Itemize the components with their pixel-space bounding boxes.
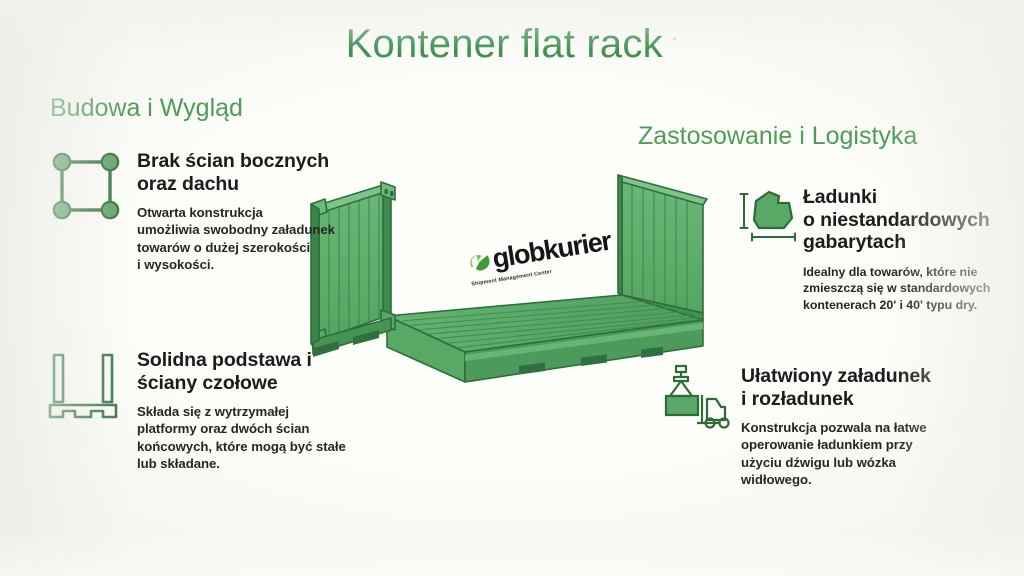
section-header-budowa: Budowa i Wygląd — [50, 94, 243, 123]
feature-body: Składa się z wytrzymałej platformy oraz … — [137, 403, 375, 472]
feature-title: Ładunki o niestandardowych gabarytach — [803, 186, 1021, 254]
feature-title: Ułatwiony załadunek i rozładunek — [741, 365, 946, 410]
feature-body: Idealny dla towarów, które nie zmieszczą… — [803, 264, 1021, 313]
open-frame-square-icon — [47, 147, 125, 230]
oversized-cargo-dimensions-icon — [739, 187, 801, 250]
feature-brak-scian: Brak ścian bocznych oraz dachu Otwarta k… — [137, 150, 352, 273]
feature-ulatwiony-zaladunek: Ułatwiony załadunek i rozładunek Konstru… — [741, 365, 946, 488]
infographic-canvas: Kontener flat rack· Budowa i Wygląd Zast… — [0, 0, 1024, 576]
leaf-logo-icon — [465, 248, 493, 280]
title-trailing-dot: · — [671, 25, 679, 50]
feature-title: Brak ścian bocznych oraz dachu — [137, 150, 352, 195]
feature-solidna-podstawa: Solidna podstawa i ściany czołowe Składa… — [137, 349, 375, 472]
feature-body: Konstrukcja pozwala na łatwe operowanie … — [741, 419, 946, 488]
platform-with-end-walls-icon — [45, 351, 125, 426]
section-header-zastosowanie: Zastosowanie i Logistyka — [638, 122, 917, 151]
feature-title: Solidna podstawa i ściany czołowe — [137, 349, 375, 394]
feature-body: Otwarta konstrukcja umożliwia swobodny z… — [137, 204, 352, 273]
page-title-text: Kontener flat rack — [346, 22, 663, 66]
feature-ladunki-niestandardowe: Ładunki o niestandardowych gabarytach Id… — [803, 186, 1021, 313]
crane-hook-and-forklift-icon — [659, 363, 735, 436]
page-title: Kontener flat rack· — [0, 22, 1024, 67]
